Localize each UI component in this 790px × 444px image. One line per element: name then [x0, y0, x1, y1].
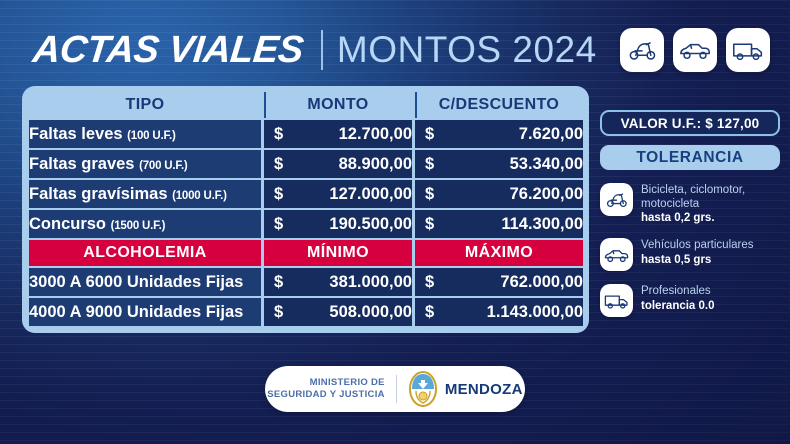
- car-icon: [600, 238, 633, 271]
- infographic-root: ACTAS VIALES MONTOS 2024: [0, 0, 790, 444]
- cell-monto: $127.000,00: [264, 180, 412, 208]
- monto-value: 12.700,00: [339, 125, 412, 143]
- minimo-value: 381.000,00: [329, 273, 412, 291]
- descuento-value: 7.620,00: [519, 125, 583, 143]
- table-row: 3000 A 6000 Unidades Fijas $381.000,00 $…: [29, 268, 583, 296]
- currency-symbol: $: [425, 185, 434, 204]
- tolerance-line1: Bicicleta, ciclomotor,: [641, 184, 745, 198]
- alcohol-header-row: ALCOHOLEMIA MÍNIMO MÁXIMO: [29, 240, 583, 266]
- monto-value: 88.900,00: [339, 155, 412, 173]
- table-row: Faltas graves (700 U.F.) $88.900,00 $53.…: [29, 150, 583, 178]
- unidades-label: 3000 A 6000 Unidades Fijas: [29, 273, 243, 291]
- currency-symbol: $: [274, 273, 283, 292]
- tipo-uf: (1500 U.F.): [111, 220, 166, 232]
- unidades-label: 4000 A 9000 Unidades Fijas: [29, 303, 243, 321]
- tolerance-line1: Vehículos particulares: [641, 239, 754, 253]
- scooter-icon: [620, 28, 664, 72]
- tipo-label: Faltas gravísimas: [29, 185, 168, 203]
- table-header-row: TIPO MONTO C/DESCUENTO: [29, 92, 583, 118]
- page-title-bold: ACTAS VIALES: [31, 29, 305, 72]
- truck-icon: [600, 284, 633, 317]
- cell-descuento: $76.200,00: [415, 180, 583, 208]
- header: ACTAS VIALES MONTOS 2024: [33, 26, 597, 74]
- currency-symbol: $: [274, 303, 283, 322]
- currency-symbol: $: [425, 303, 434, 322]
- monto-value: 127.000,00: [329, 185, 412, 203]
- ministry-line2: SEGURIDAD Y JUSTICIA: [267, 389, 385, 401]
- currency-symbol: $: [425, 215, 434, 234]
- scooter-icon: [600, 183, 633, 216]
- minimo-value: 508.000,00: [329, 303, 412, 321]
- cell-descuento: $7.620,00: [415, 120, 583, 148]
- maximo-value: 1.143.000,00: [487, 303, 583, 321]
- tolerance-line2: motocicleta: [641, 198, 745, 212]
- sidebar: VALOR U.F.: $ 127,00 TOLERANCIA Biciclet…: [600, 110, 780, 317]
- tolerance-text: Bicicleta, ciclomotor, motocicleta hasta…: [641, 183, 745, 225]
- page-title-light: MONTOS 2024: [337, 29, 597, 71]
- alcohol-header-maximo: MÁXIMO: [415, 240, 583, 266]
- currency-symbol: $: [274, 185, 283, 204]
- currency-symbol: $: [274, 155, 283, 174]
- table-row: Faltas gravísimas (1000 U.F.) $127.000,0…: [29, 180, 583, 208]
- tipo-label: Concurso: [29, 215, 106, 233]
- tolerance-text: Vehículos particulares hasta 0,5 grs: [641, 238, 754, 267]
- currency-symbol: $: [274, 125, 283, 144]
- tipo-label: Faltas graves: [29, 155, 134, 173]
- tolerance-value: hasta 0,2 grs.: [641, 211, 745, 225]
- table-row: Faltas leves (100 U.F.) $12.700,00 $7.62…: [29, 120, 583, 148]
- ministry-line1: MINISTERIO DE: [267, 377, 385, 389]
- tipo-label: Faltas leves: [29, 125, 123, 143]
- cell-maximo: $1.143.000,00: [415, 298, 583, 326]
- column-header-descuento: C/DESCUENTO: [415, 92, 583, 118]
- cell-maximo: $762.000,00: [415, 268, 583, 296]
- rates-table-panel: TIPO MONTO C/DESCUENTO Faltas leves (100…: [22, 86, 589, 333]
- currency-symbol: $: [425, 125, 434, 144]
- column-header-monto: MONTO: [264, 92, 412, 118]
- table-row: Concurso (1500 U.F.) $190.500,00 $114.30…: [29, 210, 583, 238]
- header-vehicle-icons: [620, 28, 770, 72]
- mendoza-shield-icon: [408, 371, 438, 407]
- cell-tipo: Faltas gravísimas (1000 U.F.): [29, 180, 261, 208]
- cell-tipo: Faltas leves (100 U.F.): [29, 120, 261, 148]
- alcohol-header-label: ALCOHOLEMIA: [29, 240, 261, 266]
- cell-minimo: $381.000,00: [264, 268, 412, 296]
- tolerance-value: hasta 0,5 grs: [641, 253, 754, 267]
- monto-value: 190.500,00: [329, 215, 412, 233]
- tolerance-item: Profesionales tolerancia 0.0: [600, 284, 780, 317]
- cell-unidades: 4000 A 9000 Unidades Fijas: [29, 298, 261, 326]
- descuento-value: 76.200,00: [510, 185, 583, 203]
- descuento-value: 53.340,00: [510, 155, 583, 173]
- rates-table: TIPO MONTO C/DESCUENTO Faltas leves (100…: [26, 90, 586, 328]
- table-row: 4000 A 9000 Unidades Fijas $508.000,00 $…: [29, 298, 583, 326]
- alcohol-header-minimo: MÍNIMO: [264, 240, 412, 266]
- currency-symbol: $: [425, 155, 434, 174]
- maximo-value: 762.000,00: [500, 273, 583, 291]
- footer-logo-bar: MINISTERIO DE SEGURIDAD Y JUSTICIA MENDO…: [265, 366, 525, 412]
- tipo-uf: (1000 U.F.): [172, 190, 227, 202]
- cell-tipo: Faltas graves (700 U.F.): [29, 150, 261, 178]
- truck-icon: [726, 28, 770, 72]
- tolerancia-title: TOLERANCIA: [600, 145, 780, 170]
- tolerance-item: Bicicleta, ciclomotor, motocicleta hasta…: [600, 183, 780, 225]
- tipo-uf: (700 U.F.): [139, 160, 188, 172]
- valor-uf-badge: VALOR U.F.: $ 127,00: [600, 110, 780, 136]
- descuento-value: 114.300,00: [501, 215, 583, 233]
- cell-monto: $190.500,00: [264, 210, 412, 238]
- cell-tipo: Concurso (1500 U.F.): [29, 210, 261, 238]
- ministry-label: MINISTERIO DE SEGURIDAD Y JUSTICIA: [267, 377, 385, 401]
- tolerance-text: Profesionales tolerancia 0.0: [641, 284, 715, 313]
- province-label: MENDOZA: [445, 381, 523, 398]
- cell-monto: $88.900,00: [264, 150, 412, 178]
- currency-symbol: $: [425, 273, 434, 292]
- cell-descuento: $114.300,00: [415, 210, 583, 238]
- currency-symbol: $: [274, 215, 283, 234]
- title-divider: [321, 30, 323, 70]
- tipo-uf: (100 U.F.): [127, 130, 176, 142]
- tolerance-value: tolerancia 0.0: [641, 299, 715, 313]
- car-icon: [673, 28, 717, 72]
- tolerance-item: Vehículos particulares hasta 0,5 grs: [600, 238, 780, 271]
- column-header-tipo: TIPO: [29, 92, 261, 118]
- cell-minimo: $508.000,00: [264, 298, 412, 326]
- cell-monto: $12.700,00: [264, 120, 412, 148]
- footer-divider: [396, 375, 397, 403]
- tolerance-line1: Profesionales: [641, 285, 715, 299]
- cell-descuento: $53.340,00: [415, 150, 583, 178]
- cell-unidades: 3000 A 6000 Unidades Fijas: [29, 268, 261, 296]
